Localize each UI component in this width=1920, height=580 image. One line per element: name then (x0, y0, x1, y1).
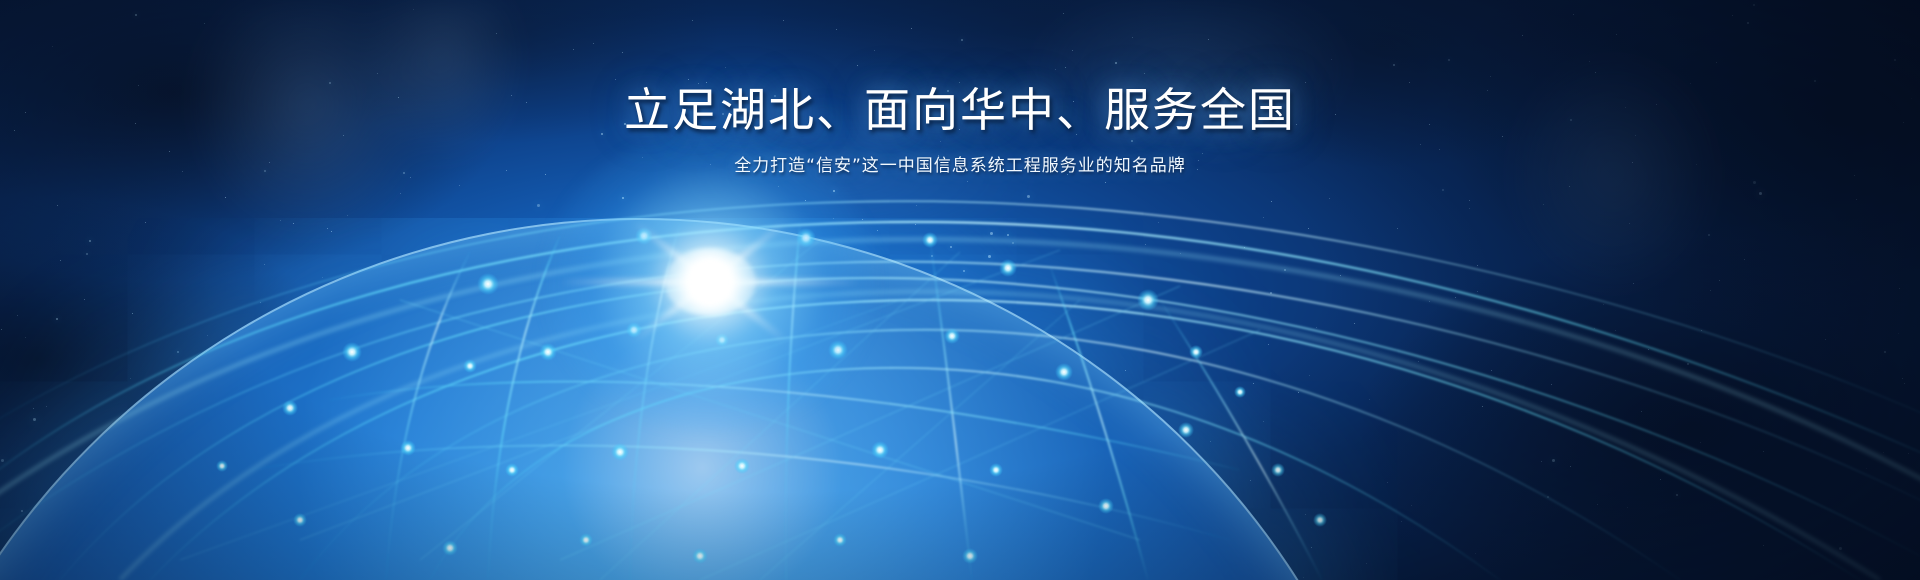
flare-spike-horizontal (560, 279, 860, 285)
banner-subheadline: 全力打造“信安”这一中国信息系统工程服务业的知名品牌 (0, 154, 1920, 180)
hero-banner: 立足湖北、面向华中、服务全国 全力打造“信安”这一中国信息系统工程服务业的知名品… (0, 0, 1920, 580)
banner-copy: 立足湖北、面向华中、服务全国 全力打造“信安”这一中国信息系统工程服务业的知名品… (0, 84, 1920, 180)
banner-headline: 立足湖北、面向华中、服务全国 (0, 84, 1920, 136)
